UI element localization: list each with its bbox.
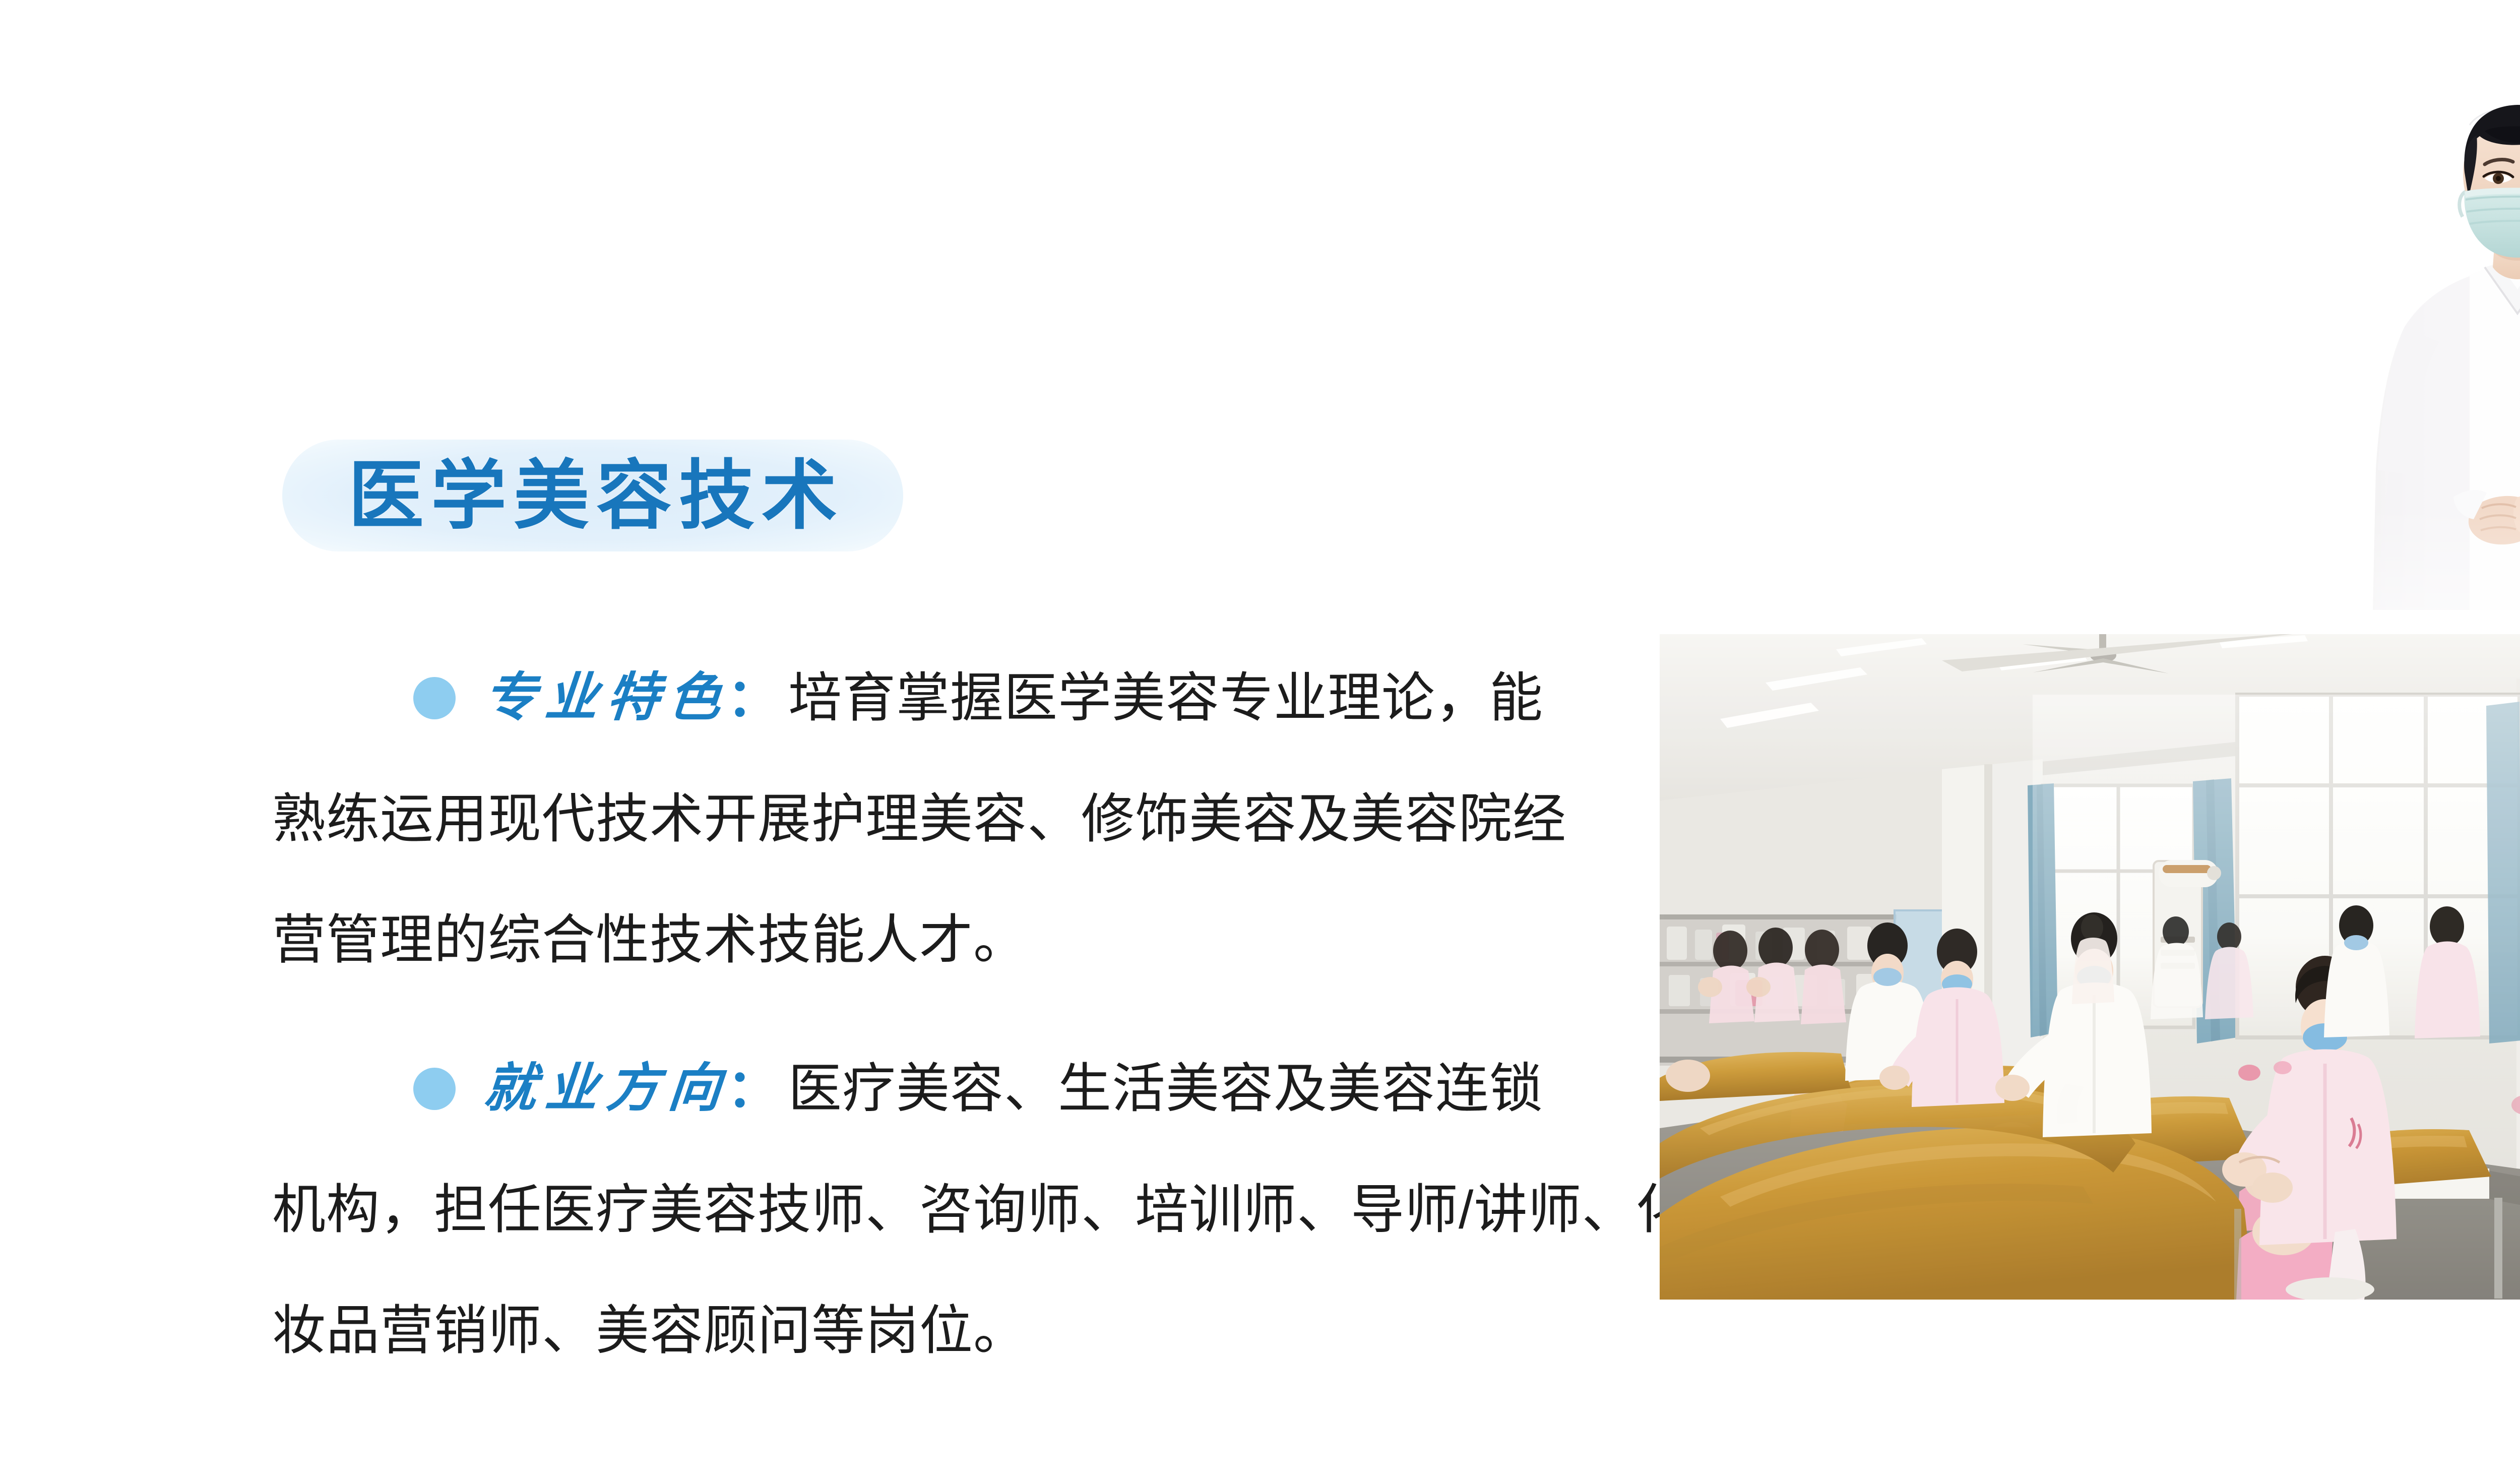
section-label: 就业方向 bbox=[479, 1028, 735, 1149]
page-title: 医学美容技术 bbox=[341, 458, 844, 533]
section-label-colon: ： bbox=[727, 1028, 779, 1149]
section-line-3: 营管理的综合性技术技能人才。 bbox=[272, 880, 1663, 1001]
nurse-portrait-photo bbox=[2318, 66, 2520, 630]
section-line-1: 医疗美容、生活美容及美容连锁 bbox=[788, 1028, 1543, 1149]
section-employment-direction: 就业方向 ： 医疗美容、生活美容及美容连锁 机构，担任医疗美容技师、咨询师、培训… bbox=[272, 1028, 1663, 1391]
bullet-dot-icon bbox=[413, 677, 456, 719]
content-block: 专业特色 ： 培育掌握医学美容专业理论，能 熟练运用现代技术开展护理美容、修饰美… bbox=[272, 638, 1663, 1391]
bullet-dot-icon bbox=[413, 1068, 456, 1110]
section-line-1: 培育掌握医学美容专业理论，能 bbox=[788, 638, 1543, 759]
section-first-line: 专业特色 ： 培育掌握医学美容专业理论，能 bbox=[272, 638, 1663, 759]
section-label-colon: ： bbox=[727, 638, 779, 759]
section-line-2: 机构，担任医疗美容技师、咨询师、培训师、导师/讲师、化 bbox=[272, 1149, 1663, 1270]
beauty-classroom-photo bbox=[1660, 634, 2520, 1300]
section-label: 专业特色 bbox=[479, 638, 735, 759]
section-first-line: 就业方向 ： 医疗美容、生活美容及美容连锁 bbox=[272, 1028, 1663, 1149]
section-title-pill: 医学美容技术 bbox=[282, 440, 903, 551]
section-line-2: 熟练运用现代技术开展护理美容、修饰美容及美容院经 bbox=[272, 759, 1663, 880]
section-major-features: 专业特色 ： 培育掌握医学美容专业理论，能 熟练运用现代技术开展护理美容、修饰美… bbox=[272, 638, 1663, 1001]
section-line-3: 妆品营销师、美容顾问等岗位。 bbox=[272, 1270, 1663, 1391]
